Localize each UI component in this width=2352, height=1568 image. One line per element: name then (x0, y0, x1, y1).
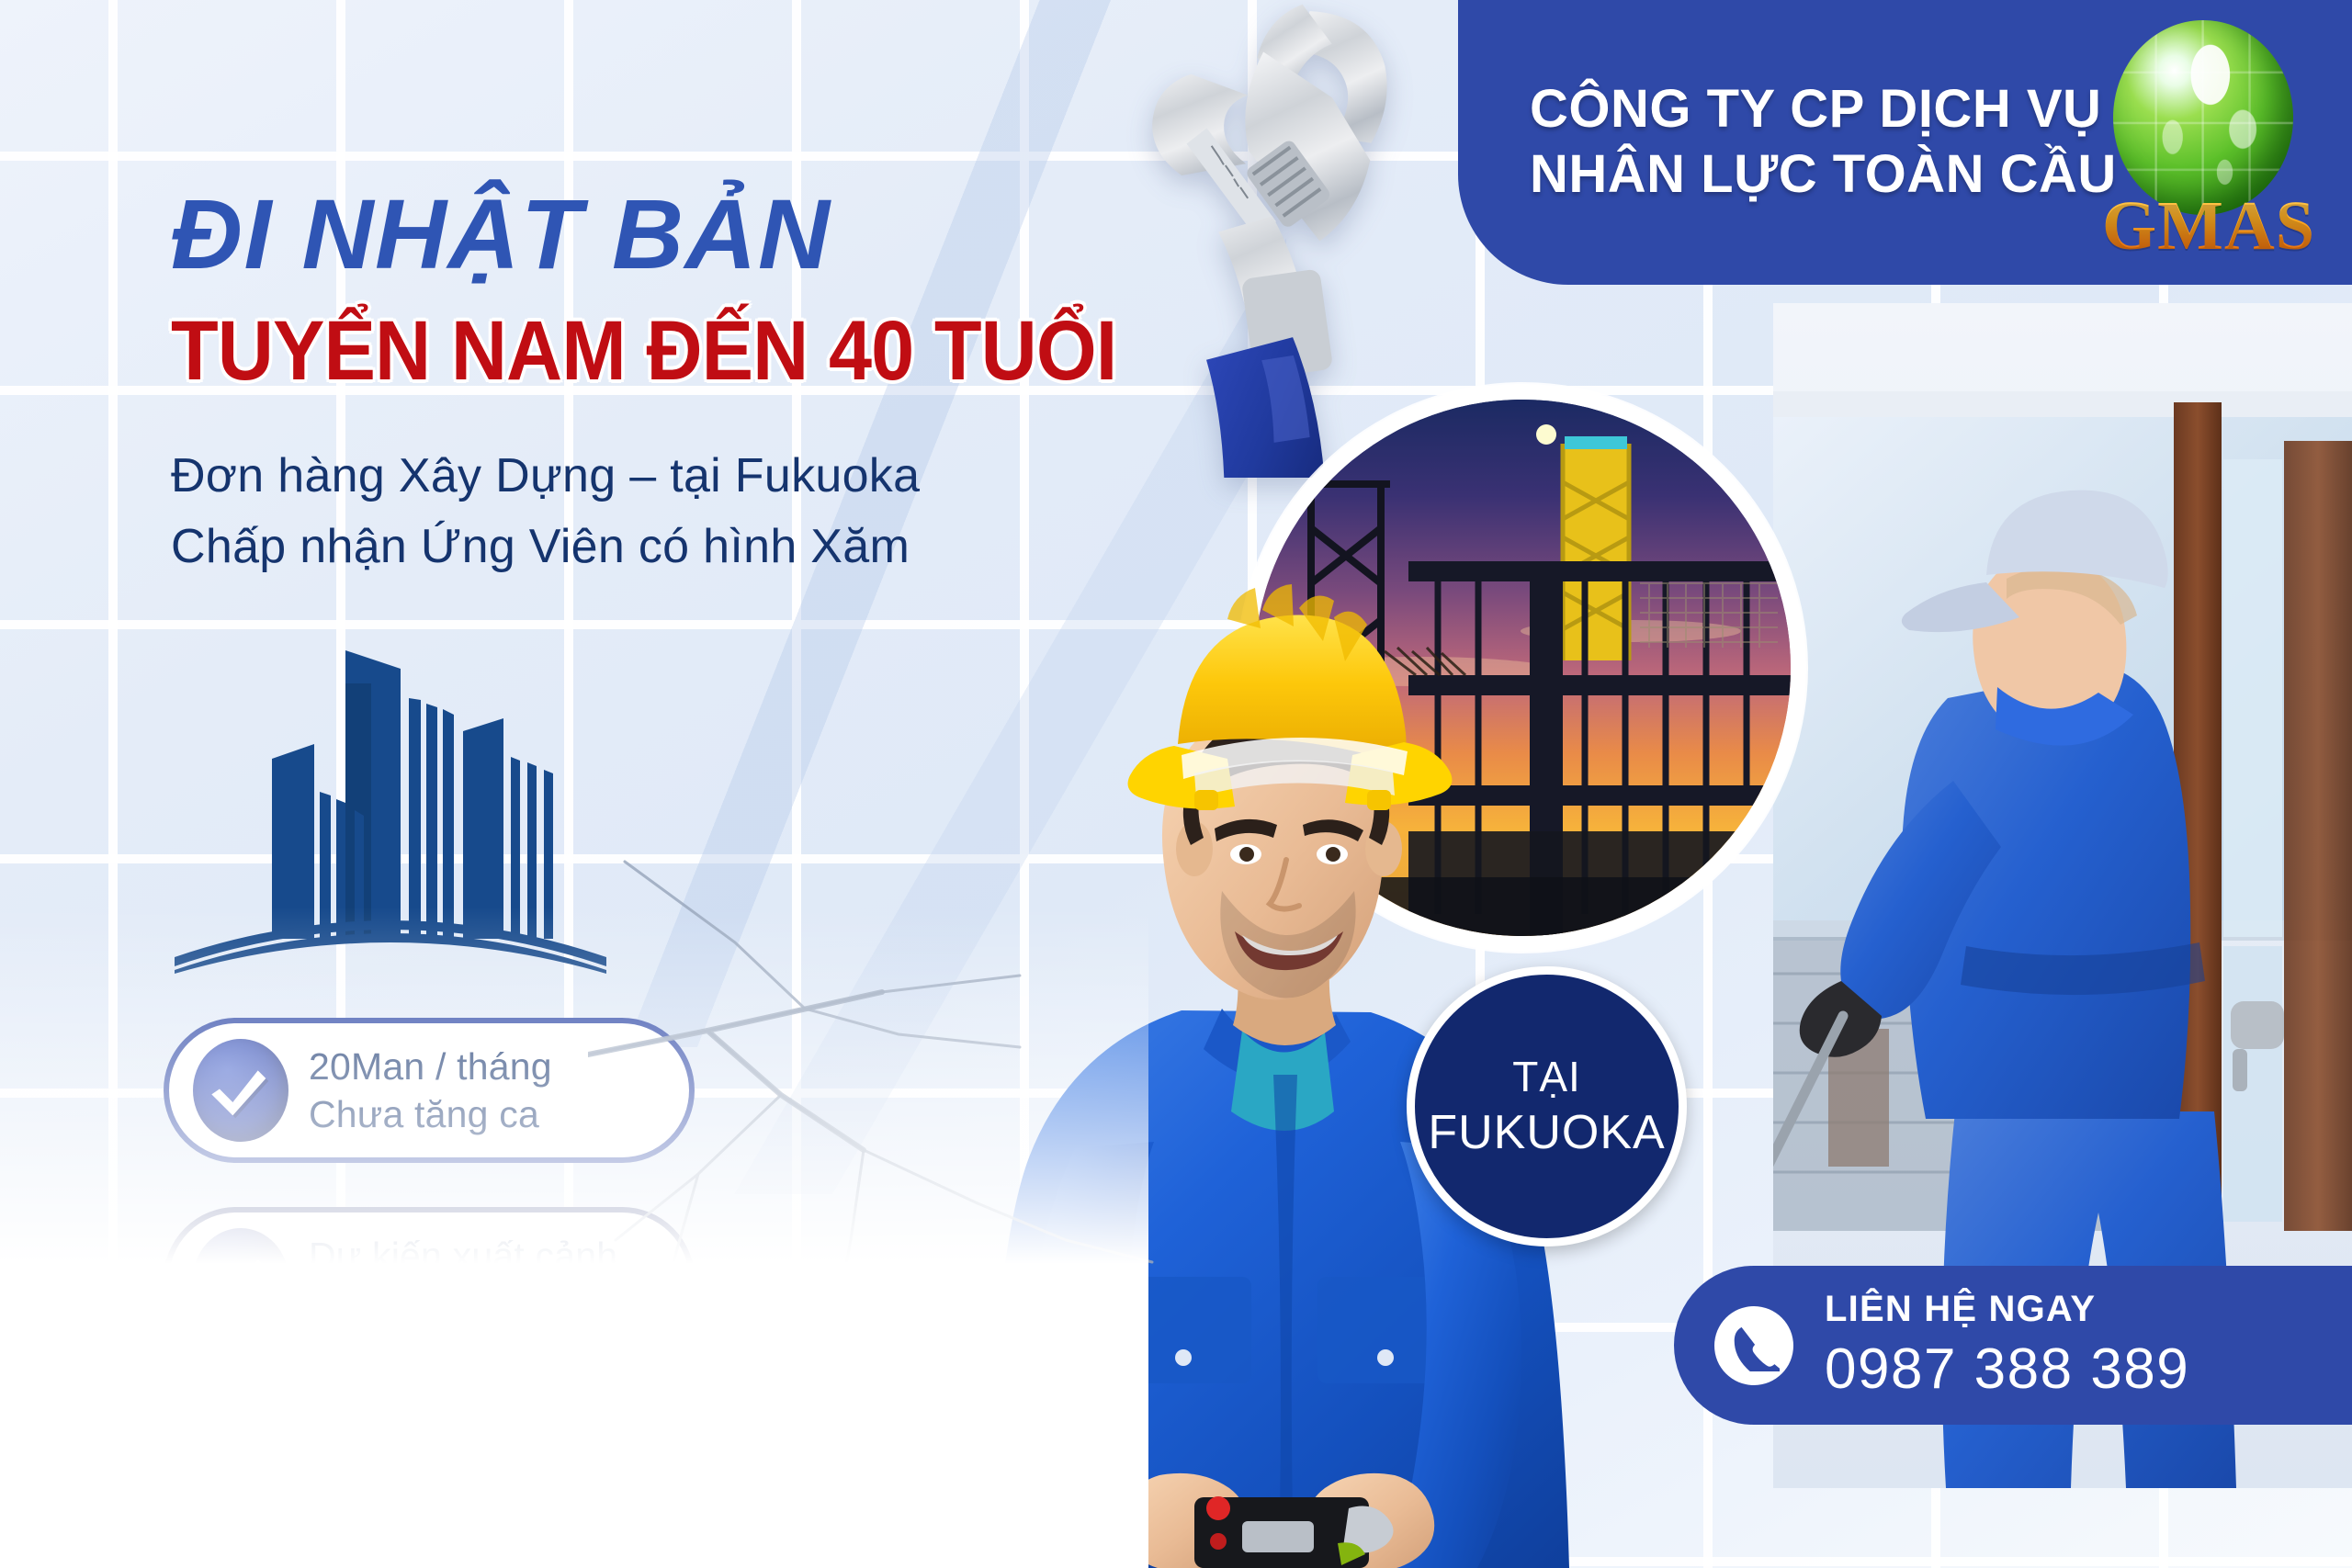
company-name-line-2: NHÂN LỰC TOÀN CẦU (1530, 142, 2117, 208)
contact-phone[interactable]: 0987 388 389 (1825, 1336, 2189, 1403)
headline-block: ĐI NHẬT BẢN TUYỂN NAM ĐẾN 40 TUỔI Đơn hà… (171, 184, 1319, 582)
check-circle-icon (193, 1228, 288, 1331)
location-badge-line-1: TẠI (1512, 1052, 1581, 1101)
feature-pill-departure[interactable]: Dự kiến xuất cảnh 4/2026 (164, 1207, 695, 1352)
feature-pill-salary-line-1: 20Man / tháng (309, 1043, 552, 1090)
feature-pill-salary-line-2: Chưa tăng ca (309, 1090, 552, 1138)
phone-icon (1714, 1306, 1793, 1385)
location-badge: TẠI FUKUOKA (1407, 966, 1687, 1247)
gmas-wordmark: GMAS (2102, 186, 2313, 266)
headline-desc-line-1: Đơn hàng Xây Dựng – tại Fukuoka (171, 441, 1319, 512)
contact-panel[interactable]: LIÊN HỆ NGAY 0987 388 389 (1674, 1266, 2352, 1425)
feature-pill-departure-line-2: 4/2026 (309, 1280, 617, 1327)
company-name-line-1: CÔNG TY CP DỊCH VỤ (1530, 77, 2117, 142)
feature-pill-salary[interactable]: 20Man / tháng Chưa tăng ca (164, 1018, 695, 1163)
check-circle-icon (193, 1039, 288, 1142)
location-badge-line-2: FUKUOKA (1428, 1105, 1665, 1161)
contact-label: LIÊN HỆ NGAY (1825, 1288, 2189, 1331)
city-skyline-icon (175, 643, 606, 974)
headline-desc-line-2: Chấp nhận Ứng Viên có hình Xăm (171, 512, 1319, 582)
company-logo: GMAS (2102, 20, 2313, 261)
feature-pill-departure-line-1: Dự kiến xuất cảnh (309, 1232, 617, 1280)
feature-list: 20Man / tháng Chưa tăng ca Dự kiến xuất … (164, 1018, 715, 1396)
headline-main: ĐI NHẬT BẢN (171, 184, 1319, 285)
headline-sub: TUYỂN NAM ĐẾN 40 TUỔI (171, 309, 1227, 393)
banner-canvas: ĐI NHẬT BẢN TUYỂN NAM ĐẾN 40 TUỔI Đơn hà… (0, 0, 2352, 1568)
company-header-panel: CÔNG TY CP DỊCH VỤ NHÂN LỰC TOÀN CẦU GMA… (1458, 0, 2352, 285)
